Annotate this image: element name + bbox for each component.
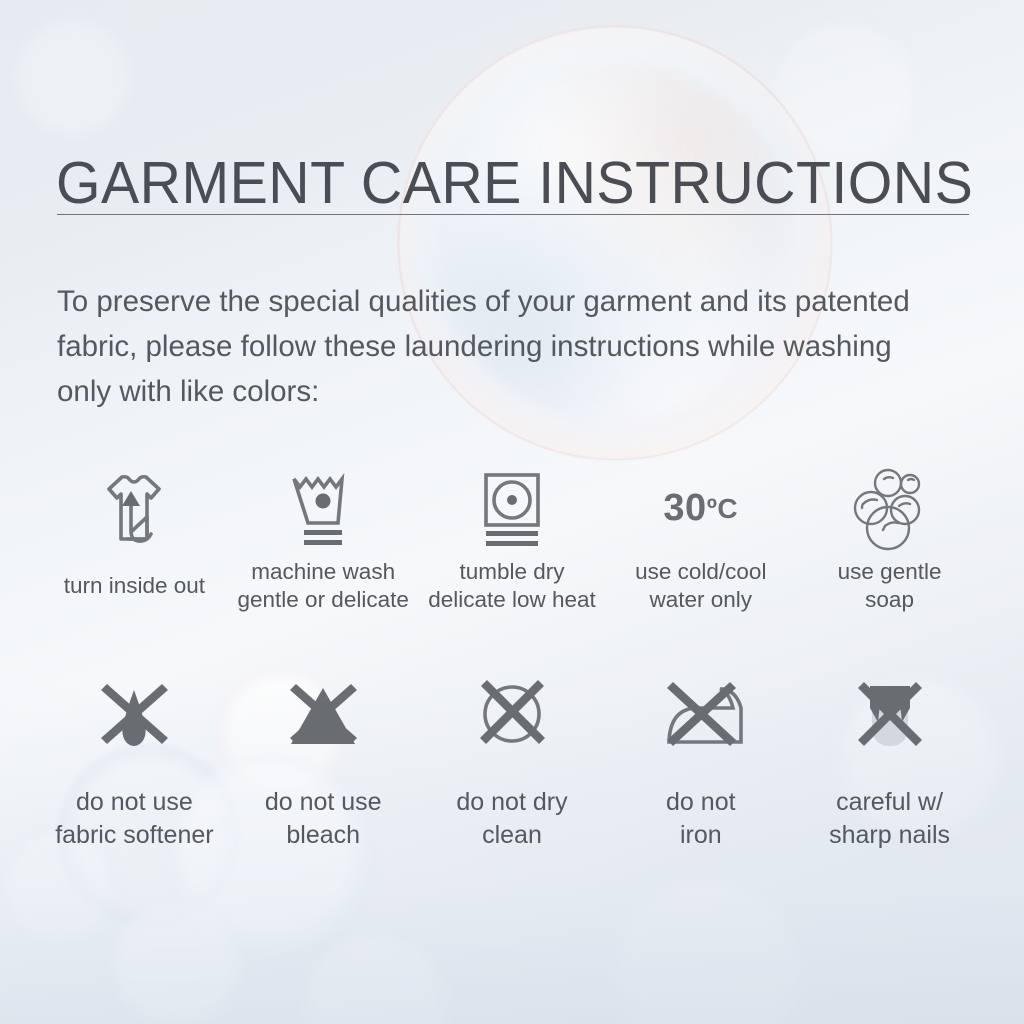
title-divider bbox=[57, 214, 969, 215]
care-item-gentle-soap: use gentle soap bbox=[795, 466, 984, 614]
no-iron-icon bbox=[651, 672, 751, 768]
care-item-caption: do not use fabric softener bbox=[55, 786, 213, 852]
no-fabric-softener-icon bbox=[86, 672, 182, 768]
temperature-30c-icon: 30ºC bbox=[663, 466, 738, 550]
care-item-water-temperature: 30ºC use cold/cool water only bbox=[606, 466, 795, 614]
care-item-caption: use cold/cool water only bbox=[635, 558, 766, 614]
page-title: GARMENT CARE INSTRUCTIONS bbox=[56, 148, 945, 218]
care-item-caption: turn inside out bbox=[64, 572, 205, 600]
care-item-no-dry-clean: do not dry clean bbox=[418, 672, 607, 852]
temperature-value: 30 bbox=[663, 487, 706, 529]
care-item-no-bleach: do not use bleach bbox=[229, 672, 418, 852]
care-item-turn-inside-out: turn inside out bbox=[40, 466, 229, 614]
care-item-tumble-dry: tumble dry delicate low heat bbox=[418, 466, 607, 614]
no-bleach-icon bbox=[275, 672, 371, 768]
care-symbol-row-2: do not use fabric softener do not use bl… bbox=[40, 672, 984, 852]
care-item-caption: use gentle soap bbox=[838, 558, 942, 614]
care-symbol-row-1: turn inside out machine wash gentle or d… bbox=[40, 466, 984, 614]
garment-care-poster: GARMENT CARE INSTRUCTIONS To preserve th… bbox=[0, 0, 1024, 1024]
intro-paragraph: To preserve the special qualities of you… bbox=[57, 279, 937, 414]
temperature-unit: ºC bbox=[707, 493, 738, 524]
care-item-caption: do not use bleach bbox=[265, 786, 382, 852]
washtub-delicate-icon bbox=[283, 466, 363, 550]
care-item-caption: tumble dry delicate low heat bbox=[428, 558, 596, 614]
care-item-caption: do not dry clean bbox=[456, 786, 567, 852]
care-item-machine-wash: machine wash gentle or delicate bbox=[229, 466, 418, 614]
care-item-caption: careful w/ sharp nails bbox=[829, 786, 950, 852]
tumble-dry-delicate-icon bbox=[472, 466, 552, 550]
care-item-sharp-nails: careful w/ sharp nails bbox=[795, 672, 984, 852]
care-item-no-fabric-softener: do not use fabric softener bbox=[40, 672, 229, 852]
tshirt-reverse-icon bbox=[96, 466, 172, 550]
soap-bubbles-icon bbox=[847, 466, 933, 550]
sharp-nails-warning-icon bbox=[842, 672, 938, 768]
no-dry-clean-icon bbox=[464, 672, 560, 768]
care-item-caption: machine wash gentle or delicate bbox=[238, 558, 409, 614]
care-item-no-iron: do not iron bbox=[606, 672, 795, 852]
care-item-caption: do not iron bbox=[666, 786, 736, 852]
